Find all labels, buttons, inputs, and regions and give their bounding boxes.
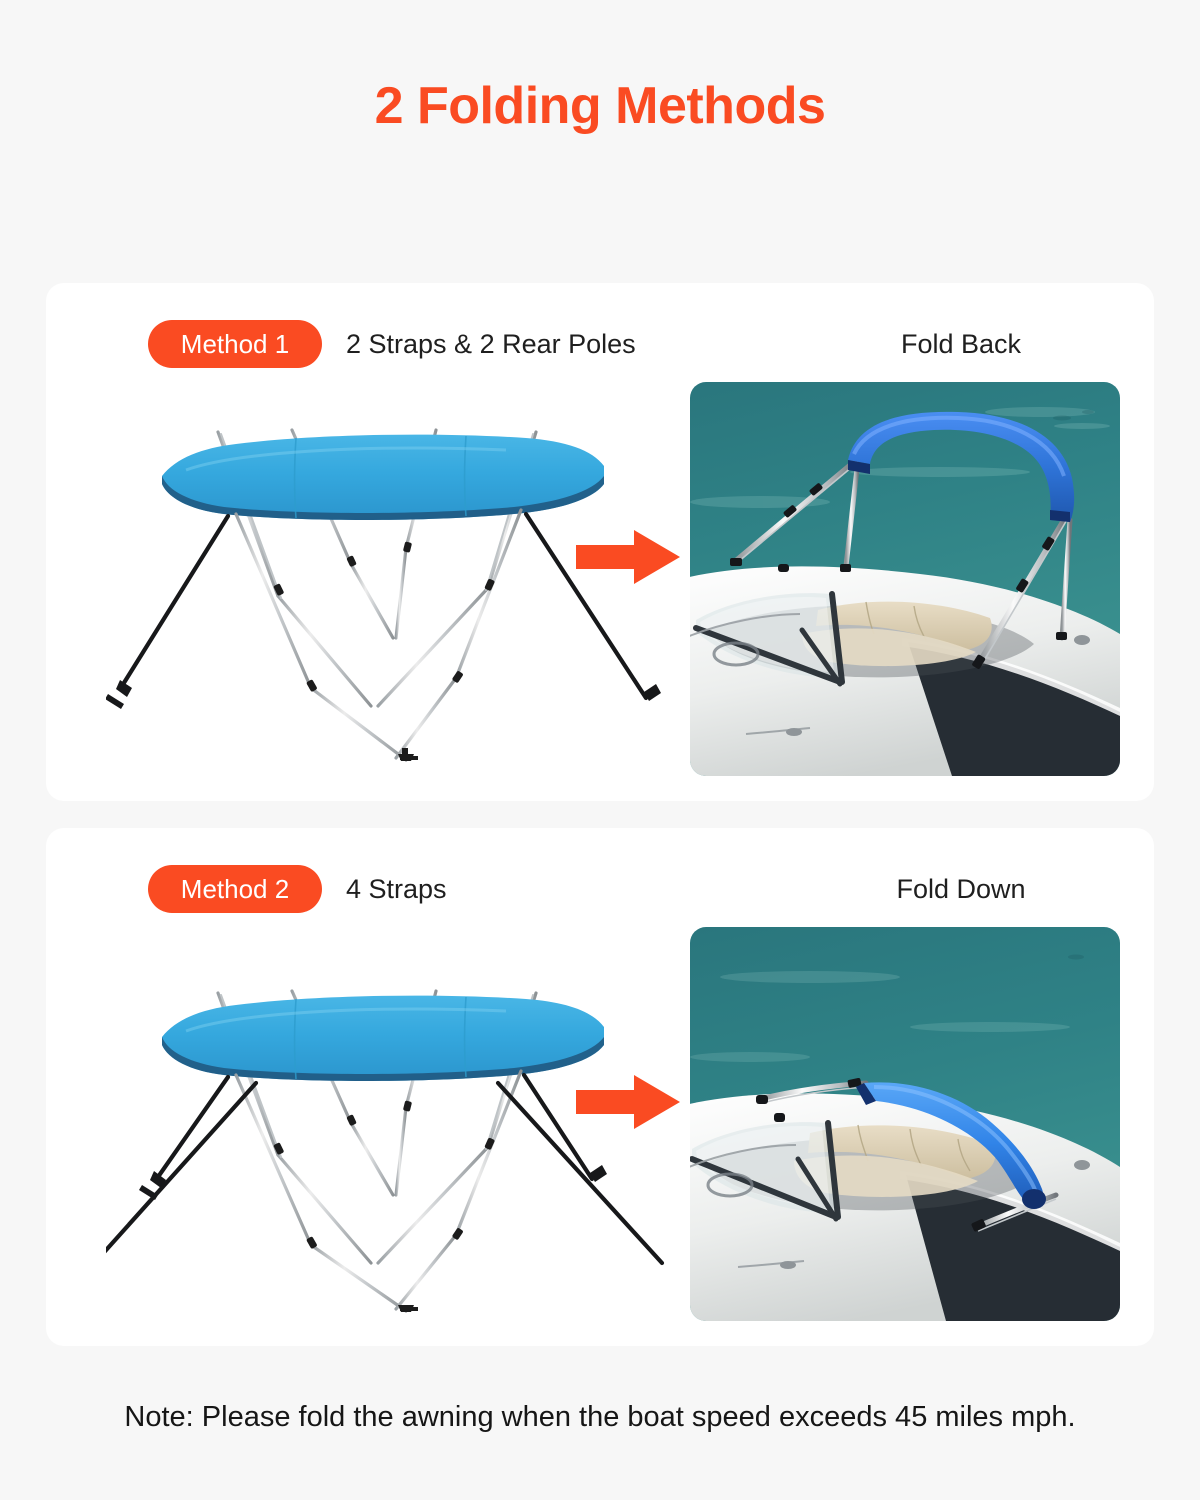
note-text: Note: Please fold the awning when the bo… bbox=[0, 1400, 1200, 1435]
boat-bimini-folded-down-photo bbox=[690, 927, 1120, 1321]
method-card-1: Method 1 2 Straps & 2 Rear Poles Fold Ba… bbox=[46, 283, 1154, 801]
arrow-right-icon-2 bbox=[576, 1073, 680, 1131]
method-2-header: Method 2 4 Straps Fold Down bbox=[46, 865, 1154, 915]
method-1-fold-label: Fold Back bbox=[746, 322, 1176, 366]
method-card-2: Method 2 4 Straps Fold Down bbox=[46, 828, 1154, 1346]
page-title: 2 Folding Methods bbox=[0, 78, 1200, 135]
method-2-fold-label: Fold Down bbox=[746, 867, 1176, 911]
method-1-description: 2 Straps & 2 Rear Poles bbox=[346, 322, 636, 366]
arrow-right-icon-1 bbox=[576, 528, 680, 586]
method-2-description: 4 Straps bbox=[346, 867, 447, 911]
method-1-badge: Method 1 bbox=[148, 320, 322, 368]
boat-bimini-folded-back-photo bbox=[690, 382, 1120, 776]
method-2-badge: Method 2 bbox=[148, 865, 322, 913]
method-1-header: Method 1 2 Straps & 2 Rear Poles Fold Ba… bbox=[46, 320, 1154, 370]
